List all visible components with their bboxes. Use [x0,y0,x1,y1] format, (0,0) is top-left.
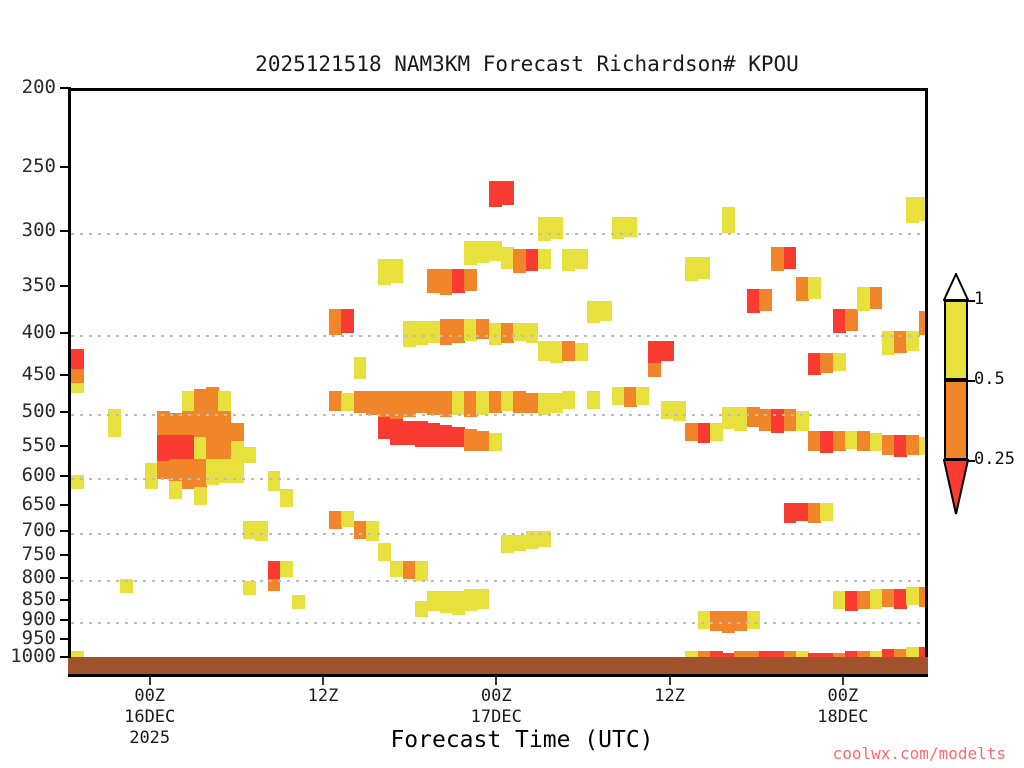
y-axis-tick-label: 750 [22,543,56,565]
heatmap-cell [820,503,833,521]
heatmap-cell [513,249,526,273]
heatmap-cell [599,301,612,321]
heatmap-cell [464,429,477,451]
y-axis-tick [60,599,71,601]
heatmap-cell [624,387,637,407]
heatmap-cell [833,591,846,609]
heatmap-cell [833,431,846,451]
heatmap-cell [919,587,928,607]
x-axis-tick-label: 00Z 17DEC [421,686,571,728]
heatmap-cell [501,391,514,411]
heatmap-cell [894,649,907,657]
x-axis-tick [149,677,151,685]
colorbar-arrow-down [943,459,969,515]
colorbar-tick-label: 0.5 [974,369,1005,389]
heatmap-cell [452,391,465,415]
heatmap-cell [562,341,575,361]
y-axis-tick [60,475,71,477]
heatmap-cell [292,595,305,609]
heatmap-cell [218,459,231,483]
heatmap-cell [415,561,428,581]
heatmap-cell [169,481,182,499]
heatmap-cell [820,353,833,373]
heatmap-cell [464,589,477,611]
heatmap-cell [403,561,416,579]
heatmap-cell [685,257,698,281]
heatmap-cell [194,487,207,505]
x-axis-tick-label: 00Z 18DEC [768,686,918,728]
y-axis-tick-label: 800 [22,566,56,588]
heatmap-cell [857,287,870,311]
y-axis-tick [60,166,71,168]
heatmap-cell [513,535,526,551]
y-axis-tick [60,530,71,532]
y-axis-tick-label: 1000 [10,645,56,667]
heatmap-cell [882,435,895,455]
heatmap-cell [354,391,367,413]
heatmap-cell [636,387,649,405]
heatmap-cell [906,435,919,455]
heatmap-cell [882,649,895,657]
heatmap-cell [489,323,502,345]
y-axis-tick [60,656,71,658]
heatmap-cell [550,393,563,413]
heatmap-cell [661,341,674,361]
heatmap-cell [796,411,809,431]
heatmap-cell [194,459,207,487]
heatmap-cell [218,391,231,411]
heatmap-cell [231,441,244,461]
y-axis-tick [60,230,71,232]
heatmap-cell [268,579,281,591]
heatmap-cell [722,407,735,429]
heatmap-cell [378,417,391,439]
colorbar-arrow-up-outline [943,273,969,301]
heatmap-cell [710,611,723,631]
x-axis-tick [842,677,844,685]
y-axis-tick-label: 600 [22,464,56,486]
heatmap-cell [882,589,895,607]
heatmap-cell [366,391,379,415]
heatmap-cell [734,407,747,431]
colorbar-band [944,380,968,460]
y-axis-tick-label: 450 [22,363,56,385]
y-axis-tick-label: 250 [22,155,56,177]
heatmap-cell [538,217,551,241]
heatmap-cell [648,341,661,363]
heatmap-cell [784,247,797,269]
heatmap-cell [71,383,84,393]
heatmap-cell [440,319,453,345]
y-axis-tick [60,87,71,89]
y-axis-tick-label: 500 [22,400,56,422]
heatmap-cell [255,521,268,541]
heatmap-cell [501,181,514,205]
heatmap-cell [206,459,219,485]
heatmap-cells [71,91,925,657]
heatmap-cell [673,401,686,421]
heatmap-cell [354,357,367,379]
heatmap-cell [919,437,928,455]
heatmap-cell [427,591,440,611]
heatmap-cell [268,561,281,579]
heatmap-cell [427,321,440,343]
heatmap-cell [538,341,551,361]
heatmap-cell [845,591,858,611]
y-axis-tick-label: 550 [22,434,56,456]
heatmap-cell [747,611,760,629]
heatmap-cell [894,435,907,457]
heatmap-cell [808,431,821,451]
heatmap-cell [403,321,416,347]
y-axis-tick-label: 400 [22,321,56,343]
heatmap-cell [169,413,182,435]
heatmap-cell [771,409,784,433]
y-axis-tick-label: 300 [22,219,56,241]
heatmap-cell [390,561,403,577]
heatmap-cell [833,309,846,333]
heatmap-cell [845,309,858,331]
y-axis-tick [60,374,71,376]
heatmap-cell [329,309,342,335]
heatmap-cell [218,441,231,459]
colorbar-tick-label: 0.25 [974,449,1015,469]
x-axis-tick [322,677,324,685]
y-axis-tick-label: 200 [22,76,56,98]
heatmap-cell [698,257,711,279]
heatmap-cell [513,391,526,413]
heatmap-cell [796,503,809,521]
heatmap-cell [906,587,919,605]
heatmap-cell [390,419,403,445]
heatmap-cell [476,241,489,263]
heatmap-cell [182,411,195,435]
heatmap-cell [489,433,502,451]
heatmap-cell [464,391,477,417]
heatmap-cell [612,387,625,405]
heatmap-cell [784,503,797,523]
heatmap-cell [612,217,625,239]
heatmap-cell [489,391,502,413]
heatmap-cell [341,511,354,527]
heatmap-cell [366,521,379,541]
heatmap-cell [575,249,588,269]
heatmap-cell [415,421,428,447]
heatmap-cell [747,407,760,427]
heatmap-cell [808,503,821,523]
heatmap-cell [734,611,747,631]
heatmap-cell [218,411,231,441]
heatmap-cell [464,269,477,291]
heatmap-cell [771,247,784,271]
y-axis-tick [60,554,71,556]
heatmap-cell [698,611,711,629]
heatmap-cell [182,459,195,489]
heatmap-cell [427,269,440,293]
heatmap-cell [820,431,833,453]
heatmap-cell [857,431,870,451]
x-axis-tick [495,677,497,685]
y-axis-tick [60,619,71,621]
heatmap-cell [169,435,182,459]
heatmap-cell [341,393,354,411]
heatmap-cell [845,431,858,449]
heatmap-cell [526,249,539,271]
heatmap-cell [464,241,477,265]
heatmap-cell [440,269,453,295]
y-axis-tick [60,577,71,579]
heatmap-cell [538,249,551,269]
heatmap-cell [661,401,674,419]
heatmap-cell [341,309,354,333]
heatmap-cell [562,391,575,409]
heatmap-cell [587,391,600,409]
heatmap-cell [648,363,661,377]
heatmap-cell [403,391,416,417]
heatmap-cell [476,319,489,339]
heatmap-cell [489,181,502,207]
heatmap-cell [562,249,575,271]
heatmap-cell [476,391,489,415]
heatmap-cell [157,461,170,479]
heatmap-cell [489,241,502,261]
heatmap-cell [194,437,207,459]
heatmap-cell [759,289,772,311]
heatmap-cell [157,435,170,461]
heatmap-cell [71,475,84,489]
heatmap-cell [231,423,244,441]
heatmap-cell [906,331,919,351]
y-axis-tick-label: 850 [22,588,56,610]
heatmap-cell [452,269,465,293]
y-axis-tick-label: 700 [22,519,56,541]
x-axis-tick-label: 12Z [248,686,398,707]
heatmap-cell [870,287,883,309]
heatmap-cell [919,197,928,221]
heatmap-cell [108,409,121,437]
y-axis-tick [60,638,71,640]
heatmap-cell [550,341,563,363]
heatmap-cell [624,217,637,237]
heatmap-cell [526,323,539,343]
y-axis-tick-label: 350 [22,274,56,296]
chart-title: 2025121518 NAM3KM Forecast Richardson# K… [0,52,1024,76]
heatmap-cell [427,391,440,415]
heatmap-cell [857,591,870,609]
heatmap-cell [378,391,391,417]
x-axis-tick-label: 12Z [595,686,745,707]
heatmap-cell [390,259,403,283]
y-axis-tick-label: 650 [22,493,56,515]
heatmap-cell [747,289,760,313]
heatmap-cell [452,591,465,615]
heatmap-cell [427,423,440,447]
heatmap-cell [71,369,84,383]
heatmap-cell [919,311,928,335]
y-axis-tick [60,285,71,287]
heatmap-cell [169,459,182,481]
heatmap-cell [182,391,195,411]
heatmap-cell [440,591,453,613]
heatmap-cell [440,391,453,417]
heatmap-cell [476,431,489,451]
heatmap-cell [906,647,919,657]
heatmap-cell [808,277,821,299]
heatmap-cell [870,433,883,451]
heatmap-cell [698,423,711,443]
y-axis-tick [60,332,71,334]
heatmap-cell [538,531,551,547]
heatmap-cell [538,393,551,415]
terrain-band [68,657,928,677]
heatmap-cell [796,277,809,301]
y-axis-tick [60,411,71,413]
heatmap-cell [513,323,526,341]
heatmap-cell [280,489,293,507]
colorbar-legend: 10.50.25 [944,300,968,460]
heatmap-cell [882,331,895,355]
heatmap-cell [575,343,588,361]
heatmap-cell [919,647,928,657]
heatmap-cell [894,589,907,609]
heatmap-cell [243,447,256,463]
heatmap-cell [452,427,465,447]
heatmap-cell [231,461,244,483]
heatmap-cell [415,321,428,345]
heatmap-cell [808,353,821,375]
colorbar-tick-label: 1 [974,289,984,309]
heatmap-cell [206,411,219,439]
heatmap-cell [526,393,539,413]
heatmap-cell [870,589,883,609]
heatmap-cell [194,411,207,437]
heatmap-cell [722,207,735,233]
heatmap-cell [906,197,919,223]
heatmap-cell [378,259,391,285]
heatmap-cell [501,323,514,343]
heatmap-cell [206,387,219,411]
heatmap-cell [182,435,195,459]
heatmap-cell [378,543,391,561]
heatmap-cell [550,217,563,239]
heatmap-cell [329,511,342,529]
heatmap-cell [784,409,797,431]
heatmap-cell [268,471,281,491]
heatmap-cell [464,319,477,341]
heatmap-cell [194,389,207,411]
heatmap-cell [452,319,465,343]
heatmap-cell [206,439,219,459]
heatmap-cell [354,521,367,539]
heatmap-cell [120,579,133,593]
heatmap-cell [501,535,514,553]
heatmap-cell [501,247,514,269]
heatmap-cell [243,521,256,539]
watermark: coolwx.com/modelts [833,744,1006,763]
heatmap-cell [415,391,428,413]
heatmap-cell [722,611,735,633]
heatmap-cell [145,463,158,489]
heatmap-cell [329,391,342,411]
colorbar-band [944,300,968,380]
y-axis-tick [60,504,71,506]
heatmap-cell [526,531,539,549]
heatmap-cell [243,581,256,595]
heatmap-cell [415,601,428,617]
plot-area [68,88,928,657]
heatmap-cell [710,423,723,441]
heatmap-cell [71,349,84,371]
heatmap-cell [403,421,416,445]
x-axis-tick [669,677,671,685]
heatmap-cell [685,423,698,441]
chart-figure: 2025121518 NAM3KM Forecast Richardson# K… [0,0,1024,768]
y-axis-tick [60,445,71,447]
heatmap-cell [440,425,453,447]
heatmap-cell [759,409,772,431]
heatmap-cell [476,589,489,609]
heatmap-cell [894,331,907,353]
heatmap-cell [833,353,846,371]
heatmap-cell [390,391,403,419]
heatmap-cell [157,411,170,435]
heatmap-cell [587,301,600,323]
heatmap-cell [280,561,293,577]
